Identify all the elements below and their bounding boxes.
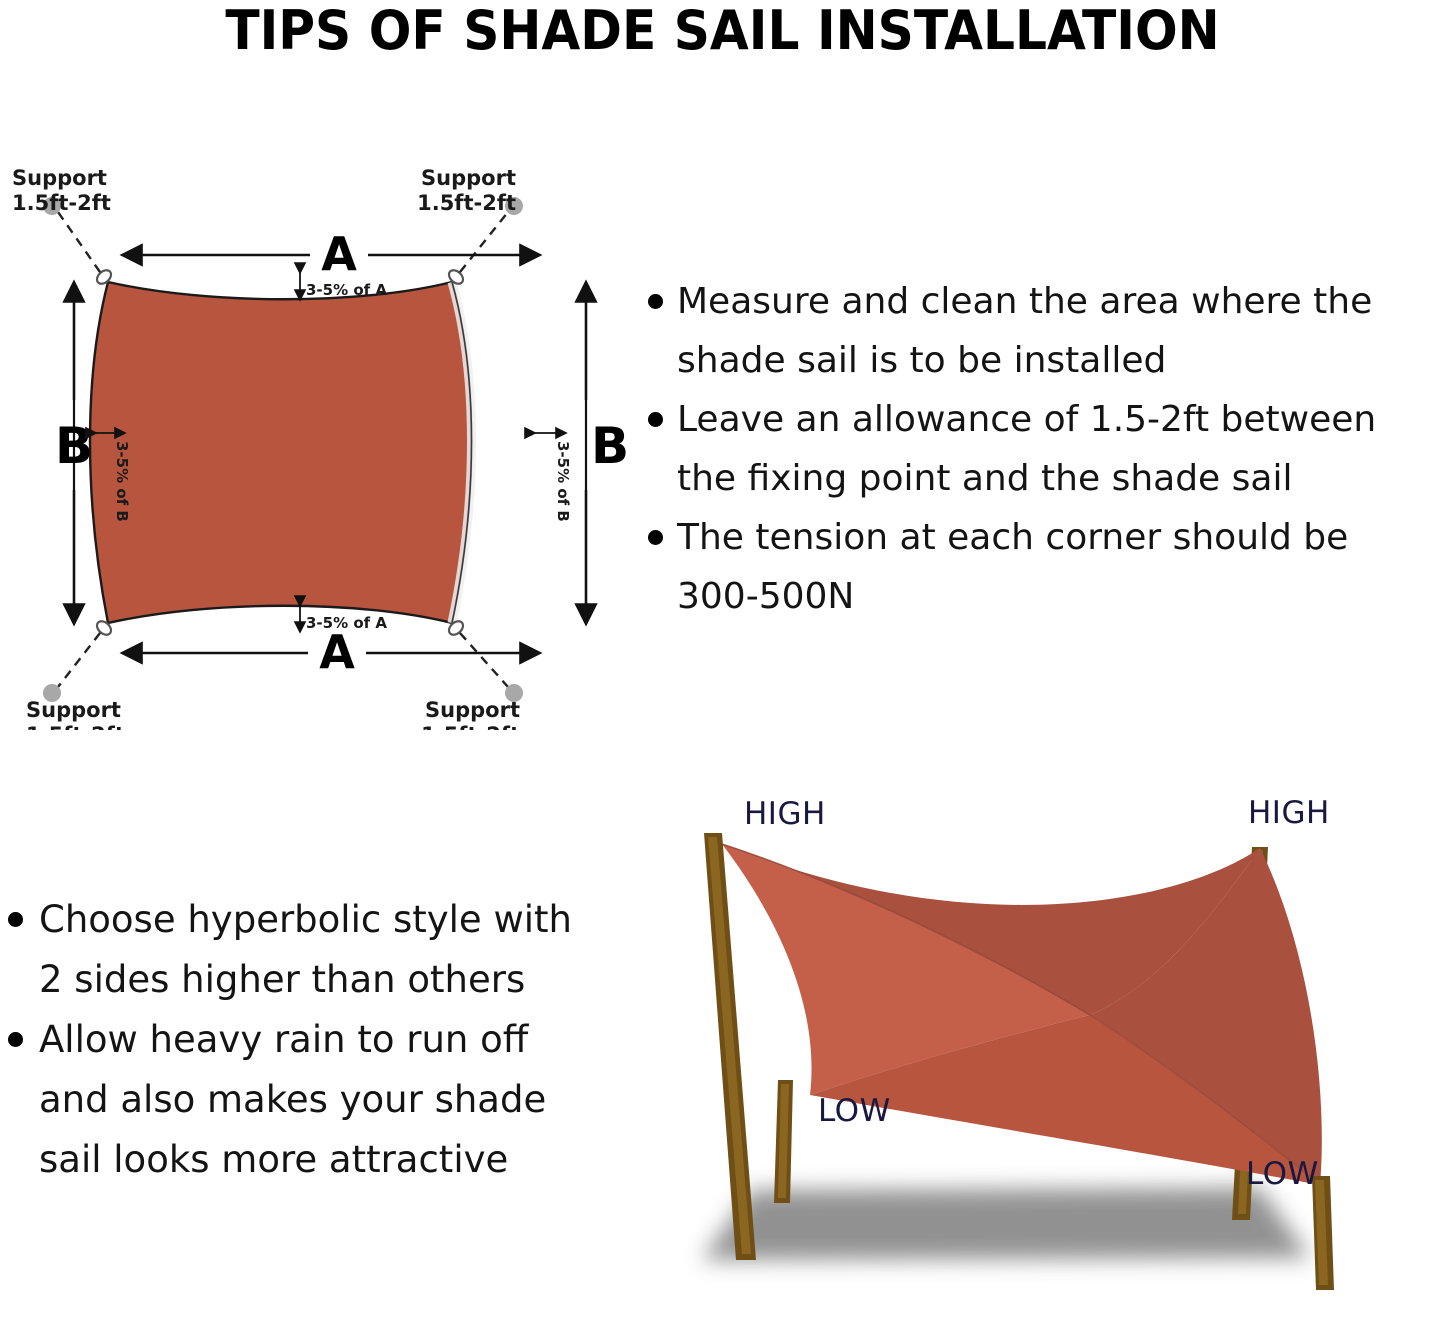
list-item: Choose hyperbolic style with 2 sides hig… <box>0 890 620 1010</box>
support-label-line1: Support <box>26 698 121 722</box>
list-item-line: shade sail is to be installed <box>677 340 1166 381</box>
label-low-left: LOW <box>818 1093 891 1129</box>
dimension-label-a-top: A <box>321 227 357 281</box>
list-item: Measure and clean the area where the sha… <box>648 272 1445 390</box>
list-item: Allow heavy rain to run off and also mak… <box>0 1010 620 1190</box>
list-item-line: and also makes your shade <box>39 1078 546 1121</box>
pole-high-left <box>704 833 756 1260</box>
label-high-left: HIGH <box>744 796 826 832</box>
label-high-right: HIGH <box>1248 795 1330 831</box>
list-item: Leave an allowance of 1.5-2ft between th… <box>648 390 1445 508</box>
bullet-dot-icon <box>8 912 23 927</box>
list-item-line: 2 sides higher than others <box>39 958 525 1001</box>
list-item-line: Measure and clean the area where the <box>677 281 1372 322</box>
support-label-line1: Support <box>12 166 107 190</box>
list-item-text: Measure and clean the area where the sha… <box>677 272 1372 390</box>
support-label-line2: 1.5ft-2ft <box>12 191 111 215</box>
list-item-line: Allow heavy rain to run off <box>39 1018 528 1061</box>
dimension-a-top: A <box>122 227 540 281</box>
support-label-bottom-right: Support 1.5ft-2ft <box>421 698 520 730</box>
bullet-dot-icon <box>648 530 663 545</box>
support-label-bottom-left: Support 1.5ft-2ft <box>26 698 125 730</box>
page-title: TIPS OF SHADE SAIL INSTALLATION <box>51 0 1395 62</box>
support-label-line1: Support <box>425 698 520 722</box>
support-label-line2: 1.5ft-2ft <box>26 723 125 730</box>
list-item-line: The tension at each corner should be <box>677 517 1348 558</box>
list-item-line: sail looks more attractive <box>39 1138 508 1181</box>
list-item-text: Allow heavy rain to run off and also mak… <box>39 1010 546 1190</box>
dimension-b-right: B <box>586 282 629 624</box>
hyperbolic-sail-illustration: HIGH HIGH LOW LOW <box>660 790 1445 1319</box>
list-item-text: Leave an allowance of 1.5-2ft between th… <box>677 390 1376 508</box>
dimension-a-bottom: A <box>122 625 540 679</box>
dimension-b-left: B <box>55 282 93 624</box>
sail-shape <box>90 282 472 623</box>
list-item-line: Choose hyperbolic style with <box>39 898 572 941</box>
curve-note-left-text: 3-5% of B <box>113 441 131 522</box>
support-label-line1: Support <box>421 166 516 190</box>
pole-low-right <box>1312 1176 1334 1290</box>
pole-low-left <box>774 1080 793 1203</box>
dimension-label-b-left: B <box>55 417 93 475</box>
installation-tips-list: Measure and clean the area where the sha… <box>648 272 1445 626</box>
support-label-line2: 1.5ft-2ft <box>417 191 516 215</box>
hyperbolic-style-tips-list: Choose hyperbolic style with 2 sides hig… <box>0 890 620 1190</box>
label-low-right: LOW <box>1246 1156 1319 1192</box>
dimension-label-a-bottom: A <box>319 625 355 679</box>
bullet-dot-icon <box>648 412 663 427</box>
support-label-line2: 1.5ft-2ft <box>421 723 520 730</box>
curve-note-top-text: 3-5% of A <box>306 281 387 299</box>
bullet-dot-icon <box>8 1032 23 1047</box>
curve-note-bottom-text: 3-5% of A <box>306 614 387 632</box>
list-item-text: Choose hyperbolic style with 2 sides hig… <box>39 890 572 1010</box>
curve-note-right: 3-5% of B <box>535 433 572 522</box>
list-item-text: The tension at each corner should be 300… <box>677 508 1348 626</box>
list-item-line: Leave an allowance of 1.5-2ft between <box>677 399 1376 440</box>
support-label-top-left: Support 1.5ft-2ft <box>12 166 111 215</box>
dimension-label-b-right: B <box>591 417 629 475</box>
sail-shape-hyperbolic <box>722 844 1322 1185</box>
bullet-dot-icon <box>648 294 663 309</box>
support-label-top-right: Support 1.5ft-2ft <box>417 166 516 215</box>
ground-shadow <box>702 1188 1310 1260</box>
curve-note-right-text: 3-5% of B <box>554 441 572 522</box>
list-item: The tension at each corner should be 300… <box>648 508 1445 626</box>
list-item-line: 300-500N <box>677 576 854 617</box>
rectangular-sail-diagram: Support 1.5ft-2ft Support 1.5ft-2ft Supp… <box>0 160 660 730</box>
list-item-line: the fixing point and the shade sail <box>677 458 1292 499</box>
